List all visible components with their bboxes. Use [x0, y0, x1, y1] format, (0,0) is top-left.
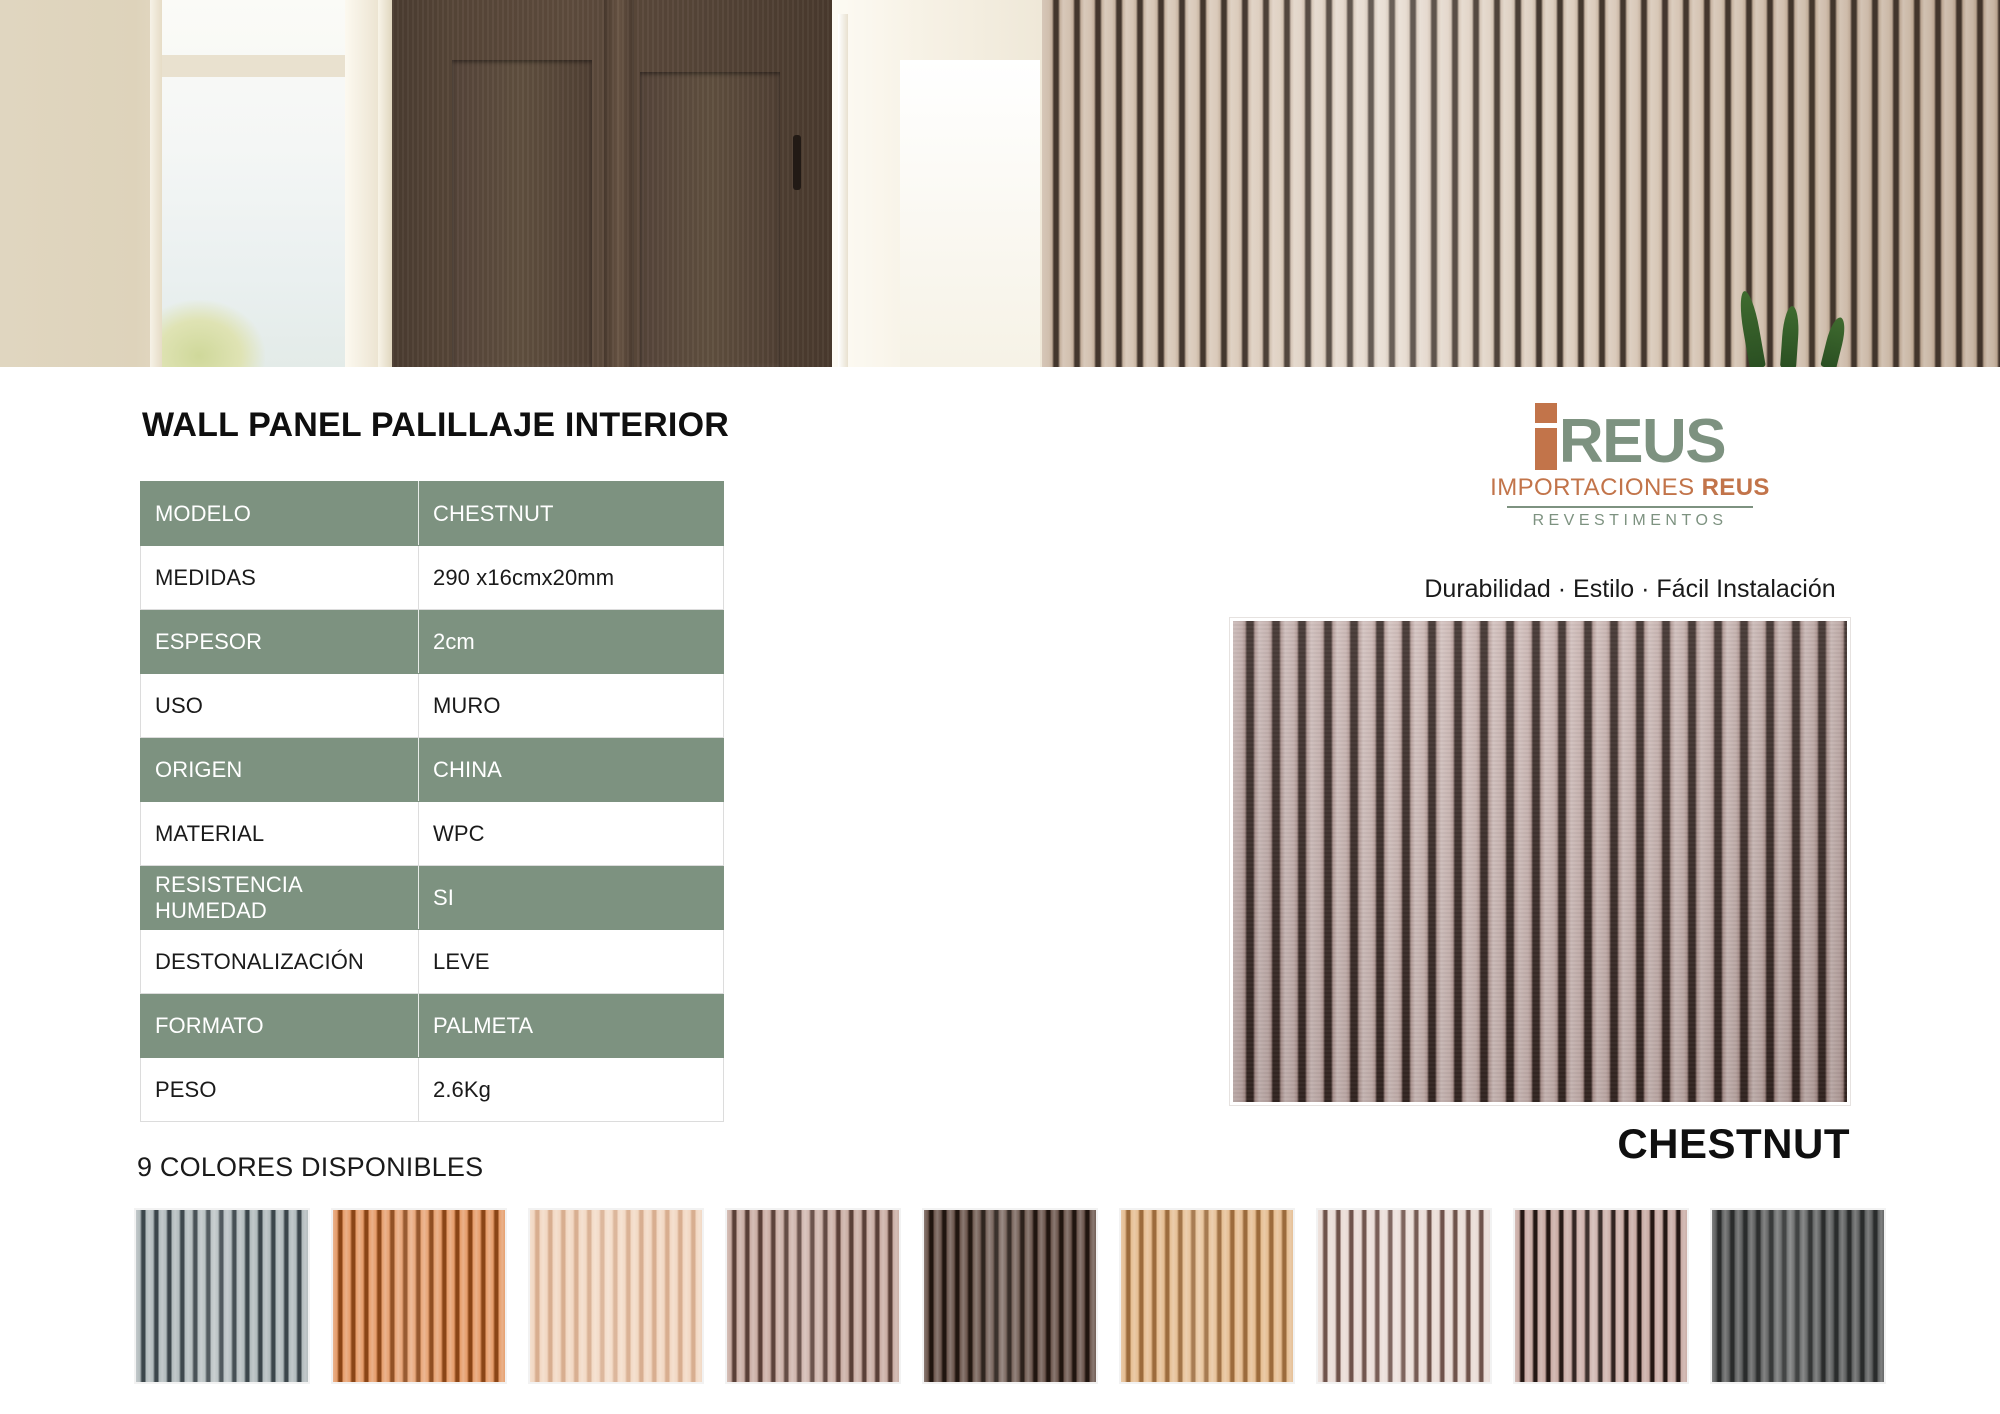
- page-title: WALL PANEL PALILLAJE INTERIOR: [142, 406, 729, 445]
- spec-value: 2.6Kg: [419, 1058, 724, 1122]
- logo-i-dot: [1535, 403, 1557, 423]
- spec-value: CHESTNUT: [419, 482, 724, 546]
- table-row: MEDIDAS290 x16cmx20mm: [141, 546, 724, 610]
- product-image: [1230, 618, 1850, 1105]
- swatch-sheen: [333, 1210, 505, 1382]
- color-swatch-blue-grey[interactable]: [134, 1208, 310, 1384]
- color-swatch-natural-oak[interactable]: [1119, 1208, 1295, 1384]
- color-swatch-light-beige[interactable]: [528, 1208, 704, 1384]
- logo-i-glyph-icon: [1535, 402, 1557, 470]
- spec-key: FORMATO: [141, 994, 419, 1058]
- colors-available-label: 9 COLORES DISPONIBLES: [137, 1152, 483, 1183]
- color-swatch-rose-chestnut[interactable]: [1513, 1208, 1689, 1384]
- door-panel-left: [452, 60, 592, 367]
- hero-door-jamb-inner: [378, 0, 392, 367]
- plant-leaf: [1737, 290, 1766, 367]
- door-stile: [604, 0, 634, 367]
- swatch-sheen: [1712, 1210, 1884, 1382]
- spec-value: 290 x16cmx20mm: [419, 546, 724, 610]
- swatch-sheen: [1515, 1210, 1687, 1382]
- spec-value: MURO: [419, 674, 724, 738]
- swatch-sheen: [1121, 1210, 1293, 1382]
- hero-image: [0, 0, 2000, 367]
- table-row: MODELOCHESTNUT: [141, 482, 724, 546]
- brand-tagline: Durabilidad · Estilo · Fácil Instalación: [1380, 575, 1880, 604]
- swatch-sheen: [136, 1210, 308, 1382]
- color-swatch-orange[interactable]: [331, 1208, 507, 1384]
- plant-leaf: [1780, 306, 1800, 367]
- plant-leaf: [1820, 316, 1848, 367]
- spec-value: WPC: [419, 802, 724, 866]
- door-handle-icon: [793, 135, 801, 190]
- product-spec-sheet: WALL PANEL PALILLAJE INTERIOR MODELOCHES…: [0, 0, 2000, 1414]
- hero-greenery: [155, 300, 265, 367]
- color-swatch-whitewash[interactable]: [1316, 1208, 1492, 1384]
- color-swatch-charcoal[interactable]: [1710, 1208, 1886, 1384]
- swatch-sheen: [924, 1210, 1096, 1382]
- table-row: MATERIALWPC: [141, 802, 724, 866]
- spec-value: SI: [419, 866, 724, 930]
- logo-subtitle-bold: REUS: [1702, 474, 1770, 501]
- logo-subtitle-regular: IMPORTACIONES: [1490, 474, 1701, 501]
- logo-category: REVESTIMENTOS: [1380, 512, 1880, 530]
- spec-key: DESTONALIZACIÓN: [141, 930, 419, 994]
- spec-key: MODELO: [141, 482, 419, 546]
- brand-logo: REUS IMPORTACIONES REUS REVESTIMENTOS: [1380, 400, 1880, 530]
- color-swatch-dark-brown[interactable]: [922, 1208, 1098, 1384]
- swatch-sheen: [1318, 1210, 1490, 1382]
- table-row: FORMATOPALMETA: [141, 994, 724, 1058]
- door-panel-right: [640, 72, 780, 367]
- spec-key: ORIGEN: [141, 738, 419, 802]
- table-row: PESO2.6Kg: [141, 1058, 724, 1122]
- spec-key: ESPESOR: [141, 610, 419, 674]
- swatch-sheen: [530, 1210, 702, 1382]
- table-row: RESISTENCIA HUMEDADSI: [141, 866, 724, 930]
- swatch-sheen: [727, 1210, 899, 1382]
- page-bottom-edge: [0, 1404, 2000, 1414]
- spec-key: MEDIDAS: [141, 546, 419, 610]
- spec-key: USO: [141, 674, 419, 738]
- color-swatch-mauve-taupe[interactable]: [725, 1208, 901, 1384]
- table-row: ORIGENCHINA: [141, 738, 724, 802]
- color-swatch-row: [134, 1208, 1904, 1384]
- hero-window-frame: [150, 55, 350, 77]
- hero-right-panel: [900, 60, 1040, 367]
- hero-door: [392, 0, 832, 367]
- logo-subtitle: IMPORTACIONES REUS: [1380, 474, 1880, 502]
- logo-divider: [1507, 506, 1753, 508]
- logo-wordmark: REUS: [1559, 414, 1725, 470]
- product-name: CHESTNUT: [1230, 1120, 1850, 1168]
- spec-table: MODELOCHESTNUTMEDIDAS290 x16cmx20mmESPES…: [140, 481, 724, 1122]
- logo-mark: REUS: [1380, 400, 1880, 470]
- table-row: DESTONALIZACIÓNLEVE: [141, 930, 724, 994]
- spec-value: 2cm: [419, 610, 724, 674]
- spec-key: PESO: [141, 1058, 419, 1122]
- spec-key: MATERIAL: [141, 802, 419, 866]
- spec-value: CHINA: [419, 738, 724, 802]
- hero-plant: [1720, 288, 1910, 367]
- table-row: ESPESOR2cm: [141, 610, 724, 674]
- table-row: USOMURO: [141, 674, 724, 738]
- spec-table-body: MODELOCHESTNUTMEDIDAS290 x16cmx20mmESPES…: [141, 482, 724, 1122]
- logo-i-stem: [1535, 428, 1557, 470]
- spec-key: RESISTENCIA HUMEDAD: [141, 866, 419, 930]
- spec-value: PALMETA: [419, 994, 724, 1058]
- spec-value: LEVE: [419, 930, 724, 994]
- hero-window-sill: [150, 0, 162, 367]
- hero-right-trim: [838, 14, 848, 367]
